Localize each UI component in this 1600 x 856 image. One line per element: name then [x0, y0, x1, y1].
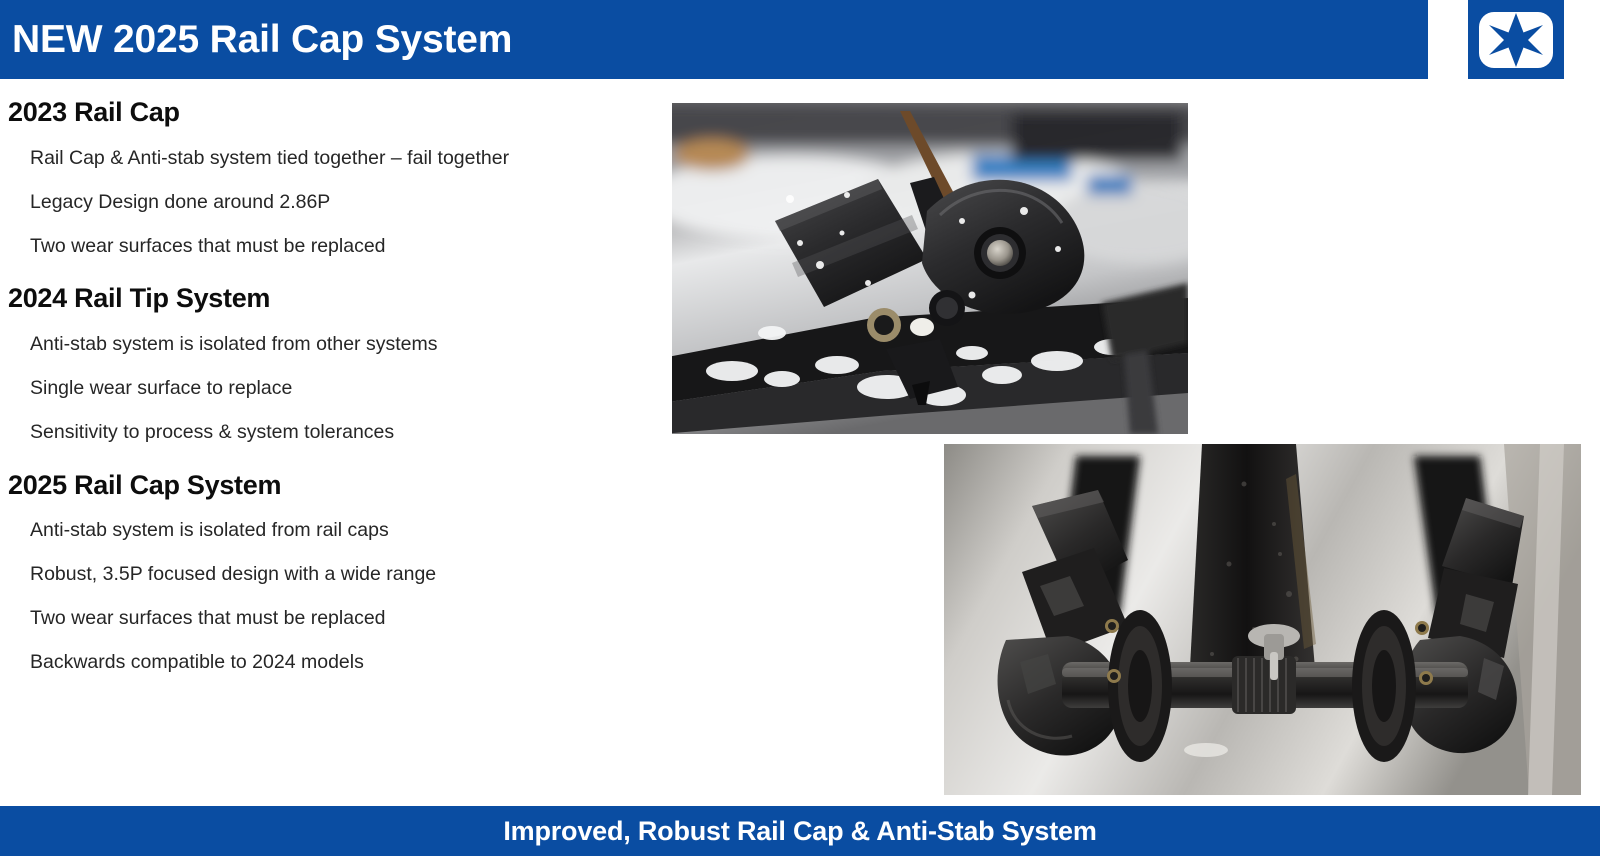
bullet-item: Anti-stab system is isolated from rail c… — [30, 509, 640, 553]
brand-logo — [1468, 0, 1564, 79]
photo-rail-cap-assembly-graphic — [944, 444, 1581, 795]
section-2023: 2023 Rail Cap Rail Cap & Anti-stab syste… — [0, 96, 640, 268]
photo-rail-cap-in-snow-graphic — [672, 103, 1188, 434]
polaris-star-icon — [1479, 12, 1553, 68]
bullet-item: Two wear surfaces that must be replaced — [30, 597, 640, 641]
photo-rail-cap-assembly-bench — [944, 444, 1581, 795]
section-heading: 2025 Rail Cap System — [8, 469, 640, 501]
slide-canvas: NEW 2025 Rail Cap System 2023 Rail Cap R… — [0, 0, 1600, 856]
content-column: 2023 Rail Cap Rail Cap & Anti-stab syste… — [0, 96, 640, 687]
section-2024: 2024 Rail Tip System Anti-stab system is… — [0, 282, 640, 454]
bullet-item: Robust, 3.5P focused design with a wide … — [30, 553, 640, 597]
bullet-list: Anti-stab system is isolated from other … — [0, 323, 640, 455]
section-heading: 2024 Rail Tip System — [8, 282, 640, 314]
page-title: NEW 2025 Rail Cap System — [12, 18, 512, 62]
bullet-item: Two wear surfaces that must be replaced — [30, 224, 640, 268]
header-bar: NEW 2025 Rail Cap System — [0, 0, 1428, 79]
bullet-item: Rail Cap & Anti-stab system tied togethe… — [30, 136, 640, 180]
photo-rail-cap-in-snow — [672, 103, 1188, 434]
footer-tagline: Improved, Robust Rail Cap & Anti-Stab Sy… — [503, 816, 1096, 847]
bullet-item: Sensitivity to process & system toleranc… — [30, 411, 640, 455]
bullet-list: Anti-stab system is isolated from rail c… — [0, 509, 640, 685]
footer-bar: Improved, Robust Rail Cap & Anti-Stab Sy… — [0, 806, 1600, 856]
section-heading: 2023 Rail Cap — [8, 96, 640, 128]
section-2025: 2025 Rail Cap System Anti-stab system is… — [0, 469, 640, 685]
bullet-list: Rail Cap & Anti-stab system tied togethe… — [0, 136, 640, 268]
bullet-item: Legacy Design done around 2.86P — [30, 180, 640, 224]
bullet-item: Backwards compatible to 2024 models — [30, 641, 640, 685]
bullet-item: Single wear surface to replace — [30, 367, 640, 411]
bullet-item: Anti-stab system is isolated from other … — [30, 323, 640, 367]
